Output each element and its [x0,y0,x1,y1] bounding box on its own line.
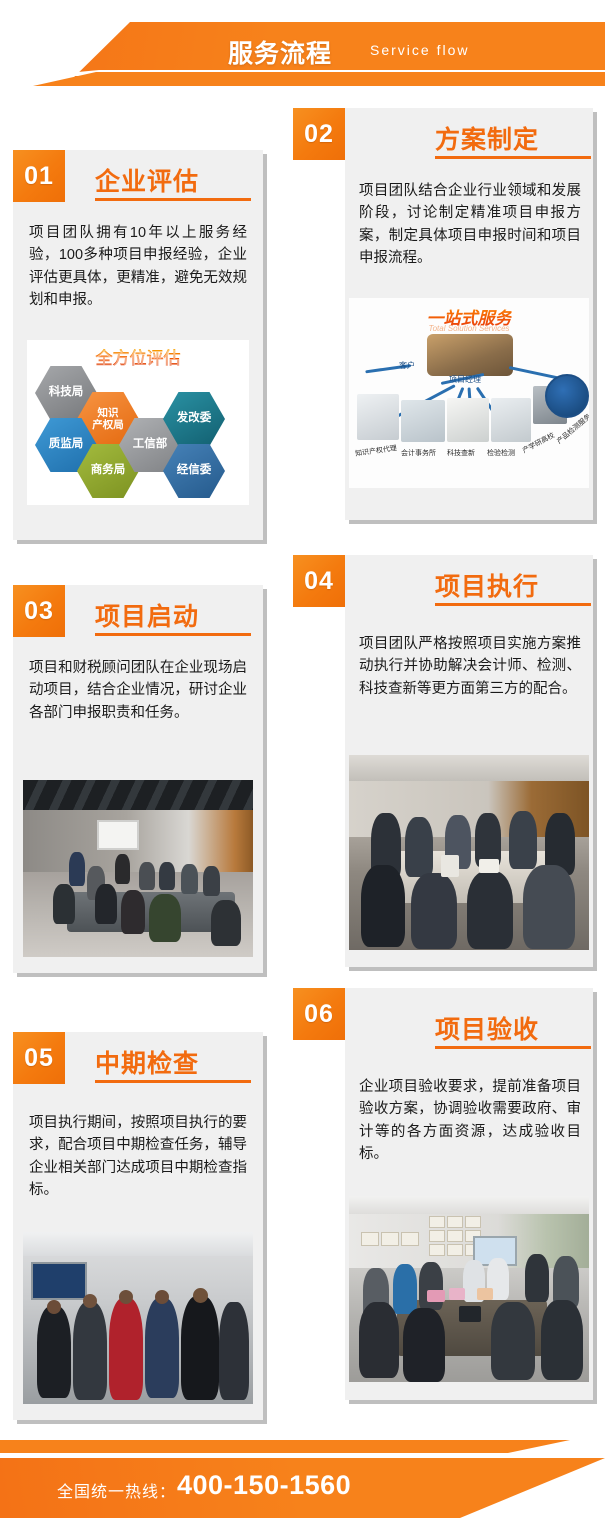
person [181,1296,219,1400]
title-underline [95,633,251,636]
infographic-caption: 全方位评估 [96,344,181,369]
step-card-05: 05 中期检查 项目执行期间，按照项目执行的要求，配合项目中期检查任务，辅导企业… [13,1032,263,1420]
service-label: 检验检测 [487,448,515,458]
node-label-customer: 客户 [399,360,415,371]
wall-certificate [447,1230,463,1242]
page-title: 服务流程 [228,34,332,70]
person-head [193,1288,208,1303]
step-card-03: 03 项目启动 项目和财税顾问团队在企业现场启动项目，结合企业情况，研讨企业各部… [13,585,263,973]
step-number-badge: 03 [13,585,65,637]
step-number-badge: 02 [293,108,345,160]
step-number-badge: 06 [293,988,345,1040]
person [159,862,175,890]
person [95,884,117,924]
gift-box [449,1288,465,1300]
ceiling [349,1196,589,1214]
header-accent-stripe [0,72,605,86]
service-tile [357,394,399,440]
wall-certificate [429,1244,445,1256]
infographic-subtitle: Total Solution Services [428,324,509,333]
meeting-around-table-photo [349,755,589,950]
person [73,1302,107,1400]
title-underline [435,156,591,159]
step-card-01: 01 企业评估 项目团队拥有10年以上服务经验，100多种项目申报经验，企业评估… [13,150,263,540]
person [403,1308,445,1382]
acceptance-meeting-photo [349,1196,589,1382]
person [509,811,537,869]
hex-label: 科技局 [49,386,84,399]
step-number-badge: 05 [13,1032,65,1084]
step-description: 项目执行期间，按照项目执行的要求，配合项目中期检查任务，辅导企业相关部门达成项目… [29,1112,247,1202]
hex-label: 商务局 [91,464,126,477]
person [523,865,575,949]
conference-room-meeting-photo [23,780,253,957]
office-visit-group-photo [23,1232,253,1404]
hotline-label: 全国统一热线： [57,1478,176,1502]
step-number-badge: 01 [13,150,65,202]
wall-certificate [381,1232,399,1246]
title-underline [95,1080,251,1083]
hex-label: 工信部 [133,438,168,451]
person [491,1302,535,1380]
person-head [155,1290,169,1304]
person [37,1306,71,1398]
wall-certificate [361,1232,379,1246]
wall-certificate [465,1216,481,1228]
step-description: 项目团队结合企业行业领域和发展阶段，讨论制定精准项目申报方案，制定具体项目申报时… [359,180,581,270]
person [115,854,130,884]
person [359,1302,399,1378]
hotline-phone[interactable]: 400-150-1560 [177,1470,351,1501]
person [181,864,198,894]
person [139,862,155,890]
ceiling [349,755,589,781]
document [479,859,499,873]
hex-label: 质监局 [49,438,84,451]
step-description: 项目团队严格按照项目实施方案推动执行并协助解决会计师、检测、科技查新等更方面第三… [359,633,581,700]
service-tile [491,398,531,442]
ceiling [23,1232,253,1256]
person [541,1300,583,1380]
person [145,1298,179,1398]
service-label: 会计事务所 [401,448,436,458]
team-photo-hub [427,334,513,376]
wall-certificate [447,1244,463,1256]
person-head [119,1290,133,1304]
person-head [47,1300,61,1314]
wall-certificate [429,1216,445,1228]
title-underline [95,198,251,201]
service-label: 科技查新 [447,448,475,458]
step-title: 项目执行 [435,567,539,603]
person [219,1302,249,1400]
hex-label: 经信委 [177,464,212,477]
person [467,871,513,949]
ceiling [23,780,253,810]
certification-seal-icon [545,374,589,418]
person-head [83,1294,97,1308]
step-title: 项目验收 [435,1010,539,1046]
person [411,873,457,949]
whiteboard [97,820,139,850]
wall-certificate [447,1216,463,1228]
gift-box [427,1290,445,1302]
document [441,855,459,877]
person [393,1264,417,1314]
page-header: 服务流程 Service flow [0,0,605,108]
step-description: 项目和财税顾问团队在企业现场启动项目，结合企业情况，研讨企业各部门申报职责和任务… [29,657,247,724]
step-title: 中期检查 [95,1044,199,1080]
page-subtitle: Service flow [370,42,469,58]
step-title: 项目启动 [95,597,199,633]
step-description: 企业项目验收要求，提前准备项目验收方案，协调验收需要政府、审计等的各方面资源，达… [359,1076,581,1166]
person [109,1298,143,1400]
service-tile [447,398,489,442]
person [525,1254,549,1302]
step-title: 方案制定 [435,120,539,156]
person [121,890,145,934]
person [419,1262,443,1310]
display-screen [31,1262,87,1300]
step-card-02: 02 方案制定 项目团队结合企业行业领域和发展阶段，讨论制定精准项目申报方案，制… [293,108,593,520]
one-stop-service-infographic: 一站式服务 Total Solution Services 客户 项目经理 知识… [349,298,589,488]
person [361,865,405,947]
wall-certificate [429,1230,445,1242]
wall-certificate [401,1232,419,1246]
step-number-badge: 04 [293,555,345,607]
step-card-06: 06 项目验收 企业项目验收要求，提前准备项目验收方案，协调验收需要政府、审计等… [293,988,593,1400]
hex-label: 发改委 [177,412,212,425]
chair [53,884,75,924]
node-label-project-manager: 项目经理 [449,374,481,385]
gift-box [477,1288,493,1300]
service-flow-poster: 服务流程 Service flow 01 企业评估 项目团队拥有10年以上服务经… [0,0,605,1538]
service-tile [401,400,445,442]
footer-accent-stripe [0,1440,605,1453]
service-label: 知识产权代理 [355,443,398,459]
step-card-04: 04 项目执行 项目团队严格按照项目实施方案推动执行并协助解决会计师、检测、科技… [293,555,593,967]
person [69,852,85,886]
person [149,894,181,942]
page-footer: 全国统一热线： 400-150-1560 [0,1440,605,1538]
person [405,817,433,877]
step-description: 项目团队拥有10年以上服务经验，100多种项目申报经验，企业评估更具体，更精准，… [29,222,247,312]
laptop [459,1306,481,1322]
person [203,866,220,896]
title-underline [435,1046,591,1049]
step-title: 企业评估 [95,162,199,198]
hex-label: 知识 产权局 [92,407,124,431]
hexagon-assessment-infographic: 全方位评估 科技局 知识 产权局 质监局 商务局 工信部 发改委 经信委 [27,340,249,505]
title-underline [435,603,591,606]
chair [211,900,241,946]
